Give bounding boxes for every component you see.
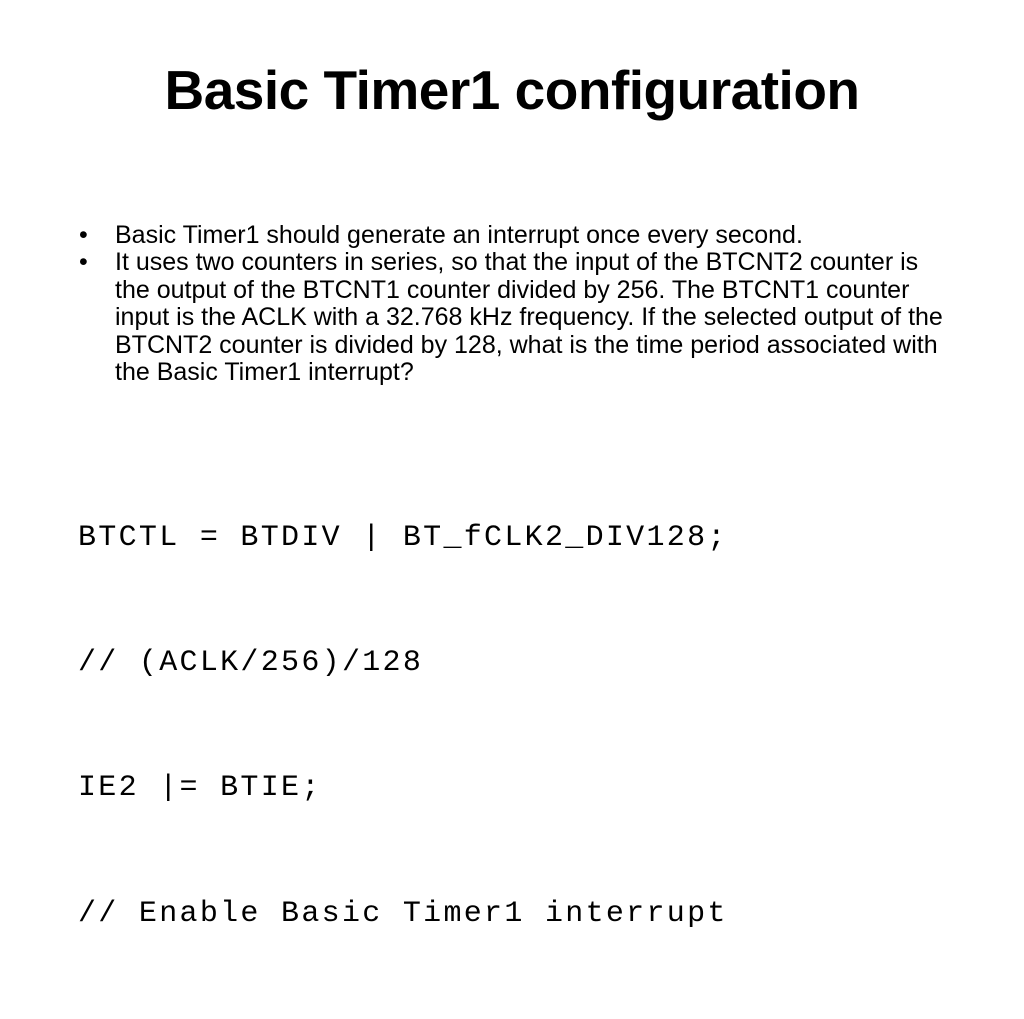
- code-snippet: BTCTL = BTDIV | BT_fCLK2_DIV128; // (ACL…: [78, 434, 728, 1019]
- list-item-text: Basic Timer1 should generate an interrup…: [115, 222, 958, 249]
- code-line: // Enable Basic Timer1 interrupt: [78, 894, 728, 936]
- code-line: BTCTL = BTDIV | BT_fCLK2_DIV128;: [78, 518, 728, 560]
- bullet-dot-icon: •: [78, 249, 115, 276]
- list-item: • It uses two counters in series, so tha…: [78, 249, 968, 386]
- presentation-slide: Basic Timer1 configuration • Basic Timer…: [0, 0, 1024, 768]
- list-item-text: It uses two counters in series, so that …: [115, 249, 958, 386]
- bullet-list: • Basic Timer1 should generate an interr…: [78, 222, 968, 386]
- code-line: // (ACLK/256)/128: [78, 643, 728, 685]
- page-title: Basic Timer1 configuration: [0, 58, 1024, 122]
- code-line: IE2 |= BTIE;: [78, 768, 728, 810]
- bullet-dot-icon: •: [78, 222, 115, 249]
- list-item: • Basic Timer1 should generate an interr…: [78, 222, 968, 249]
